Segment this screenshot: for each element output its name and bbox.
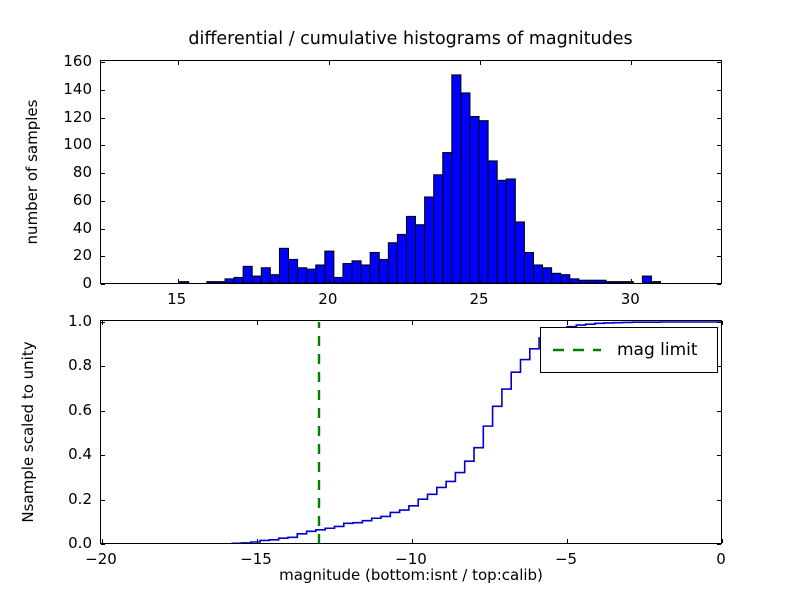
- histogram-bar: [651, 282, 660, 283]
- x-tick-mark: [412, 539, 413, 543]
- x-tick-label: 20: [318, 290, 337, 308]
- histogram-bar: [361, 265, 370, 283]
- y-tick-mark: [717, 173, 721, 174]
- histogram-bar: [425, 197, 434, 283]
- y-tick-mark: [717, 284, 721, 285]
- matplotlib-figure: differential / cumulative histograms of …: [0, 0, 800, 600]
- differential-histogram-plot-area: [101, 61, 721, 283]
- x-tick-mark: [631, 279, 632, 283]
- histogram-bar: [443, 153, 452, 283]
- y-tick-label: 120: [0, 108, 92, 126]
- histogram-bar: [588, 280, 597, 283]
- y-tick-label: 40: [0, 219, 92, 237]
- histogram-bar: [406, 216, 415, 283]
- histogram-bar: [479, 121, 488, 283]
- histogram-bar: [343, 264, 352, 283]
- y-tick-mark: [101, 90, 105, 91]
- histogram-bar: [279, 248, 288, 283]
- y-tick-mark: [717, 411, 721, 412]
- y-tick-mark: [717, 544, 721, 545]
- y-tick-mark: [101, 62, 105, 63]
- x-tick-mark: [567, 539, 568, 543]
- legend[interactable]: mag limit: [540, 327, 718, 373]
- y-tick-label: 0.2: [0, 490, 92, 508]
- top-axis-y-label: number of samples: [23, 100, 41, 245]
- y-tick-mark: [717, 229, 721, 230]
- y-tick-mark: [101, 229, 105, 230]
- histogram-bar: [252, 276, 261, 283]
- x-tick-mark: [329, 279, 330, 283]
- x-tick-mark: [567, 321, 568, 325]
- y-tick-label: 20: [0, 246, 92, 264]
- y-tick-mark: [717, 322, 721, 323]
- y-tick-label: 1.0: [0, 312, 92, 330]
- x-tick-mark: [329, 61, 330, 65]
- x-tick-mark: [412, 321, 413, 325]
- histogram-bar: [606, 282, 615, 283]
- y-tick-mark: [101, 201, 105, 202]
- histogram-bar: [307, 269, 316, 283]
- y-tick-mark: [101, 256, 105, 257]
- bottom-axis-y-label: Nsample scaled to unity: [19, 341, 37, 522]
- histogram-bar: [334, 277, 343, 283]
- x-tick-mark: [257, 321, 258, 325]
- page-title: differential / cumulative histograms of …: [100, 29, 721, 49]
- x-tick-mark: [722, 539, 723, 543]
- y-tick-mark: [717, 145, 721, 146]
- histogram-bar: [561, 275, 570, 283]
- histogram-bar: [642, 276, 651, 283]
- y-tick-mark: [717, 256, 721, 257]
- legend-label-mag-limit: mag limit: [617, 340, 698, 360]
- y-tick-mark: [101, 500, 105, 501]
- histogram-bar: [298, 268, 307, 283]
- y-tick-label: 100: [0, 135, 92, 153]
- histogram-bar: [543, 268, 552, 283]
- histogram-bar: [615, 282, 624, 283]
- histogram-bar: [597, 280, 606, 283]
- histogram-bar: [388, 243, 397, 283]
- histogram-bars: [101, 61, 721, 283]
- x-tick-mark: [480, 279, 481, 283]
- cumulative-histogram-axes: mag limit: [100, 320, 722, 544]
- histogram-bar: [434, 175, 443, 283]
- histogram-bar: [397, 234, 406, 283]
- y-tick-label: 60: [0, 191, 92, 209]
- histogram-bar: [379, 259, 388, 283]
- y-tick-mark: [717, 62, 721, 63]
- histogram-bar: [225, 279, 234, 283]
- y-tick-label: 0.0: [0, 534, 92, 552]
- x-tick-mark: [102, 539, 103, 543]
- histogram-bar: [289, 259, 298, 283]
- x-tick-mark: [178, 279, 179, 283]
- y-tick-mark: [101, 173, 105, 174]
- y-tick-mark: [717, 118, 721, 119]
- histogram-bar: [452, 75, 461, 283]
- y-tick-mark: [101, 118, 105, 119]
- y-tick-label: 160: [0, 52, 92, 70]
- y-tick-mark: [717, 90, 721, 91]
- histogram-bar: [515, 222, 524, 283]
- x-tick-label: 25: [470, 290, 489, 308]
- y-tick-mark: [101, 366, 105, 367]
- y-tick-label: 0: [0, 274, 92, 292]
- x-tick-mark: [480, 61, 481, 65]
- x-tick-mark: [722, 321, 723, 325]
- histogram-bar: [488, 161, 497, 283]
- y-tick-mark: [101, 544, 105, 545]
- histogram-bar: [497, 180, 506, 283]
- x-tick-mark: [257, 539, 258, 543]
- y-tick-label: 0.4: [0, 445, 92, 463]
- x-tick-label: 30: [621, 290, 640, 308]
- histogram-bar: [524, 252, 533, 283]
- histogram-bar: [533, 265, 542, 283]
- histogram-bar: [552, 273, 561, 283]
- y-tick-label: 140: [0, 80, 92, 98]
- y-tick-mark: [717, 201, 721, 202]
- mag-limit-dashed-line-icon: [551, 343, 603, 357]
- histogram-bar: [261, 268, 270, 283]
- x-tick-mark: [631, 61, 632, 65]
- y-tick-mark: [717, 455, 721, 456]
- y-tick-mark: [101, 455, 105, 456]
- x-tick-mark: [178, 61, 179, 65]
- histogram-bar: [461, 93, 470, 283]
- histogram-bar: [180, 282, 189, 283]
- histogram-bar: [234, 277, 243, 283]
- histogram-bar: [216, 282, 225, 283]
- y-tick-mark: [101, 284, 105, 285]
- histogram-bar: [470, 117, 479, 284]
- histogram-bar: [506, 179, 515, 283]
- bottom-axis-x-label: magnitude (bottom:isnt / top:calib): [100, 566, 722, 584]
- y-tick-label: 0.8: [0, 356, 92, 374]
- y-tick-mark: [101, 322, 105, 323]
- y-tick-mark: [101, 145, 105, 146]
- y-tick-label: 80: [0, 163, 92, 181]
- histogram-bar: [579, 280, 588, 283]
- histogram-bar: [370, 252, 379, 283]
- histogram-bar: [316, 265, 325, 283]
- y-tick-mark: [101, 411, 105, 412]
- histogram-bar: [570, 279, 579, 283]
- histogram-bar: [270, 275, 279, 283]
- y-tick-mark: [717, 366, 721, 367]
- histogram-bar: [416, 225, 425, 283]
- y-tick-label: 0.6: [0, 401, 92, 419]
- histogram-bar: [207, 282, 216, 283]
- histogram-bar: [352, 261, 361, 283]
- differential-histogram-axes: [100, 60, 722, 284]
- x-tick-label: 15: [167, 290, 186, 308]
- y-tick-mark: [717, 500, 721, 501]
- histogram-bar: [243, 266, 252, 283]
